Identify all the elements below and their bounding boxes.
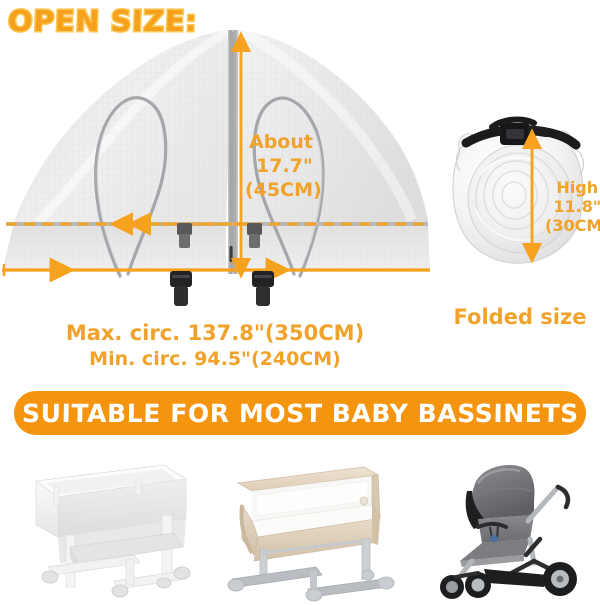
net-clamp-lower-left <box>170 271 192 306</box>
product-photo-beige-bedside-crib <box>212 443 402 605</box>
product-photo-white-bedside-bassinet <box>14 443 204 605</box>
center-zipper <box>228 30 238 274</box>
min-circumference-label: Min. circ. 94.5"(240CM) <box>0 348 430 370</box>
folded-height-label: High 11.8" (30CM) <box>545 178 600 235</box>
suitable-banner: SUITABLE FOR MOST BABY BASSINETS <box>14 391 586 435</box>
open-net-illustration: About 17.7" (45CM) Max. circ. 137.8"(350… <box>0 18 430 313</box>
net-skirt-right <box>240 222 430 272</box>
folded-height-line3: (30CM) <box>545 216 600 235</box>
folded-size-caption: Folded size <box>440 305 600 329</box>
suitable-banner-label: SUITABLE FOR MOST BABY BASSINETS <box>21 399 578 428</box>
net-height-label-line2: 17.7" <box>256 155 313 177</box>
net-height-label-line3: (45CM) <box>245 179 322 201</box>
net-left-panel <box>14 30 233 222</box>
screenshot-root: OPEN SIZE: <box>0 0 600 605</box>
product-photo-grey-stroller <box>412 443 592 605</box>
net-clamp-lower-right <box>252 271 274 306</box>
net-diagram-svg <box>0 18 430 313</box>
product-photo-row <box>0 443 600 605</box>
net-clamp-upper-right <box>247 223 262 248</box>
net-clamp-upper-left <box>177 223 192 248</box>
folded-height-line1: High <box>545 178 600 197</box>
folded-height-line2: 11.8" <box>545 197 600 216</box>
net-height-label-line1: About <box>249 131 313 153</box>
max-circumference-label: Max. circ. 137.8"(350CM) <box>0 321 430 345</box>
